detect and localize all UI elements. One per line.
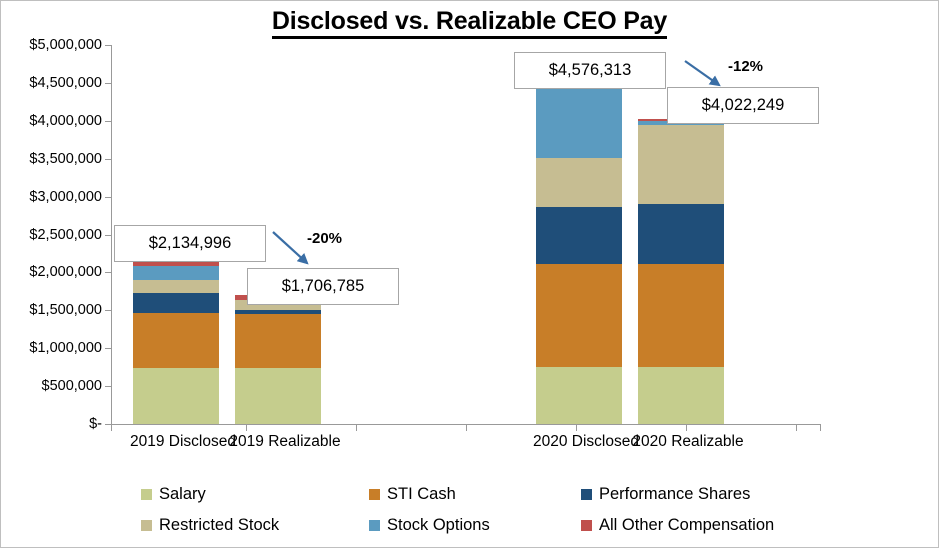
legend-item-label: All Other Compensation <box>599 516 774 535</box>
legend-swatch-icon <box>369 520 380 531</box>
chart-frame: Disclosed vs. Realizable CEO Pay $5,000,… <box>0 0 939 548</box>
legend-row: SalarySTI CashPerformance Shares <box>141 479 841 510</box>
legend-item-label: Restricted Stock <box>159 516 279 535</box>
legend-swatch-icon <box>141 489 152 500</box>
legend-item-all-other-compensation[interactable]: All Other Compensation <box>581 516 841 535</box>
legend-item-sti-cash[interactable]: STI Cash <box>369 485 581 504</box>
annotation-arrow <box>1 1 939 549</box>
legend-item-label: Salary <box>159 485 206 504</box>
legend-item-salary[interactable]: Salary <box>141 485 369 504</box>
legend-swatch-icon <box>581 489 592 500</box>
legend-row: Restricted StockStock OptionsAll Other C… <box>141 510 841 541</box>
legend-item-label: STI Cash <box>387 485 456 504</box>
legend-swatch-icon <box>141 520 152 531</box>
chart-legend: SalarySTI CashPerformance SharesRestrict… <box>141 479 841 541</box>
legend-item-stock-options[interactable]: Stock Options <box>369 516 581 535</box>
legend-item-performance-shares[interactable]: Performance Shares <box>581 485 841 504</box>
legend-swatch-icon <box>369 489 380 500</box>
legend-item-label: Performance Shares <box>599 485 750 504</box>
legend-swatch-icon <box>581 520 592 531</box>
legend-item-label: Stock Options <box>387 516 490 535</box>
legend-item-restricted-stock[interactable]: Restricted Stock <box>141 516 369 535</box>
